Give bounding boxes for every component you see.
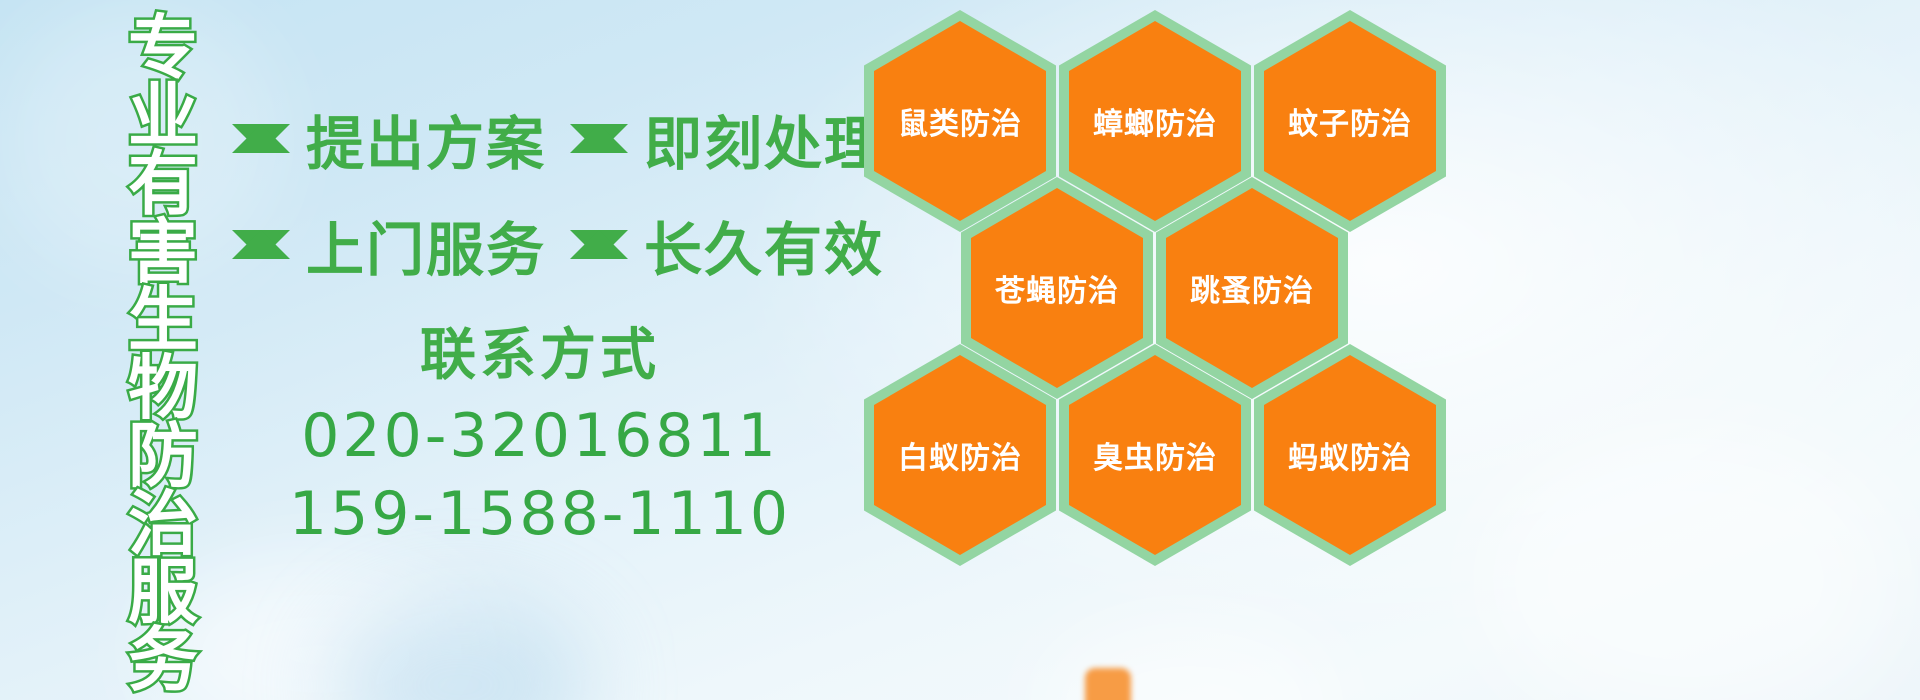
service-label: 臭虫防治 [1093,433,1217,477]
diamond-bullet-icon [570,230,628,288]
vertical-title-char: 有 [128,150,198,218]
service-hex-termite[interactable]: 白蚁防治 [864,344,1056,566]
contact-heading: 联系方式 [250,310,830,391]
feature-item: 即刻处理 [570,97,884,181]
service-label: 蚂蚁防治 [1288,433,1412,477]
vertical-title-char: 物 [128,354,198,422]
feature-label: 上门服务 [306,203,546,287]
feature-item: 长久有效 [570,203,884,287]
vertical-title-char: 害 [128,218,198,286]
vertical-title-char: 业 [128,82,198,150]
feature-label: 即刻处理 [644,97,884,181]
service-label: 跳蚤防治 [1190,266,1314,310]
vertical-title-char: 专 [128,14,198,82]
contact-block: 联系方式 020-32016811 159-1588-1110 [250,310,830,553]
service-honeycomb: 鼠类防治 蟑螂防治 蚊子防治 苍蝇防治 跳蚤防治 白蚁防治 [860,0,1460,700]
vertical-title-char: 防 [128,422,198,490]
service-label: 白蚁防治 [898,433,1022,477]
diamond-bullet-icon [570,124,628,182]
vertical-title-char: 治 [128,490,198,558]
vertical-title-char: 生 [128,286,198,354]
background-blob [150,560,490,700]
diamond-bullet-icon [232,230,290,288]
feature-label: 提出方案 [306,97,546,181]
feature-item: 提出方案 [232,97,546,181]
feature-row: 上门服务 长久有效 [232,192,872,298]
feature-item: 上门服务 [232,203,546,287]
feature-list: 提出方案 即刻处理 上门服务 长久有效 [232,86,872,298]
service-label: 鼠类防治 [898,99,1022,143]
diamond-bullet-icon [232,124,290,182]
background-blob [1480,430,1900,700]
phone-number-landline[interactable]: 020-32016811 [250,397,830,475]
background-blob [330,600,590,700]
phone-number-mobile[interactable]: 159-1588-1110 [250,475,830,553]
feature-label: 长久有效 [644,203,884,287]
service-hex-ant[interactable]: 蚂蚁防治 [1254,344,1446,566]
vertical-title-char: 务 [128,626,198,694]
service-label: 苍蝇防治 [995,266,1119,310]
service-hex-bedbug[interactable]: 臭虫防治 [1059,344,1251,566]
service-label: 蟑螂防治 [1093,99,1217,143]
service-label: 蚊子防治 [1288,99,1412,143]
vertical-title-char: 服 [128,558,198,626]
pest-control-banner: 专 业 有 害 生 物 防 治 服 务 提出方案 即刻处理 上门服务 [0,0,1920,700]
vertical-title: 专 业 有 害 生 物 防 治 服 务 [108,14,218,570]
feature-row: 提出方案 即刻处理 [232,86,872,192]
